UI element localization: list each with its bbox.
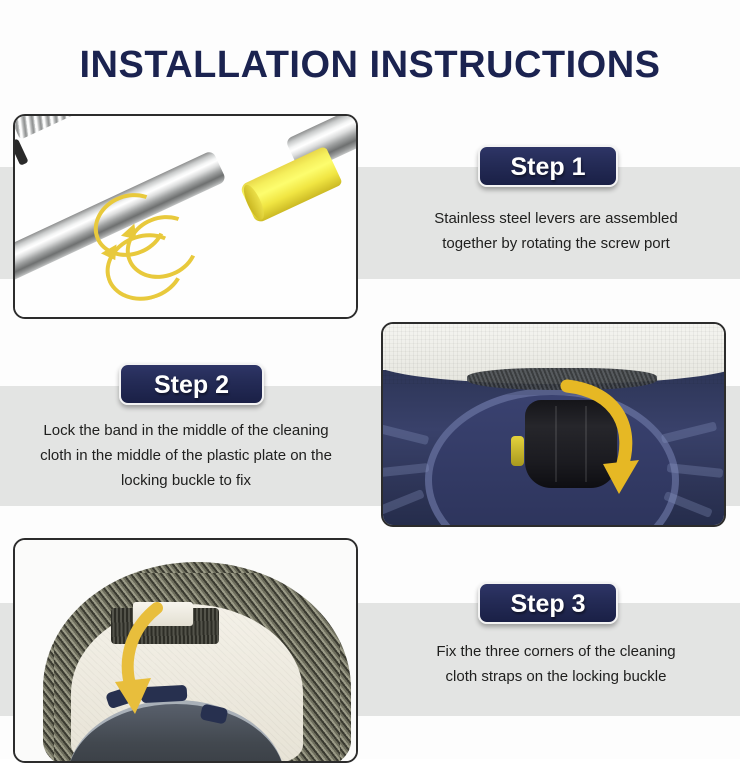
plate-rib <box>381 424 429 445</box>
step-caption-2-line-3: locking buckle to fix <box>8 468 364 493</box>
step-caption-3: Fix the three corners of the cleaning cl… <box>378 639 734 689</box>
photo-step-2-content <box>383 324 724 525</box>
step-badge-3: Step 3 <box>478 582 618 624</box>
buckle-seam <box>555 406 557 482</box>
step-caption-1-line-2: together by rotating the screw port <box>378 231 734 256</box>
photo-step-1 <box>13 114 358 319</box>
photo-step-2 <box>381 322 726 527</box>
step-caption-1-line-1: Stainless steel levers are assembled <box>378 206 734 231</box>
step-badge-2: Step 2 <box>119 363 264 405</box>
photo-step-3 <box>13 538 358 763</box>
step-caption-3-line-2: cloth straps on the locking buckle <box>378 664 734 689</box>
step-badge-1: Step 1 <box>478 145 618 187</box>
step-caption-2-line-2: cloth in the middle of the plastic plate… <box>8 443 364 468</box>
plate-rib <box>661 421 718 443</box>
curved-rotation-arrow-icon <box>559 378 649 498</box>
yellow-release-tab <box>511 436 524 466</box>
plate-rib <box>381 463 429 478</box>
plate-rib <box>381 489 425 516</box>
step-caption-2-line-1: Lock the band in the middle of the clean… <box>8 418 364 443</box>
down-curved-arrow-icon <box>111 602 191 722</box>
step-caption-3-line-1: Fix the three corners of the cleaning <box>378 639 734 664</box>
step-caption-2: Lock the band in the middle of the clean… <box>8 418 364 493</box>
photo-step-1-content <box>15 116 356 317</box>
step-caption-1: Stainless steel levers are assembled tog… <box>378 206 734 256</box>
page-title: INSTALLATION INSTRUCTIONS <box>0 44 740 87</box>
photo-step-3-content <box>15 540 356 761</box>
